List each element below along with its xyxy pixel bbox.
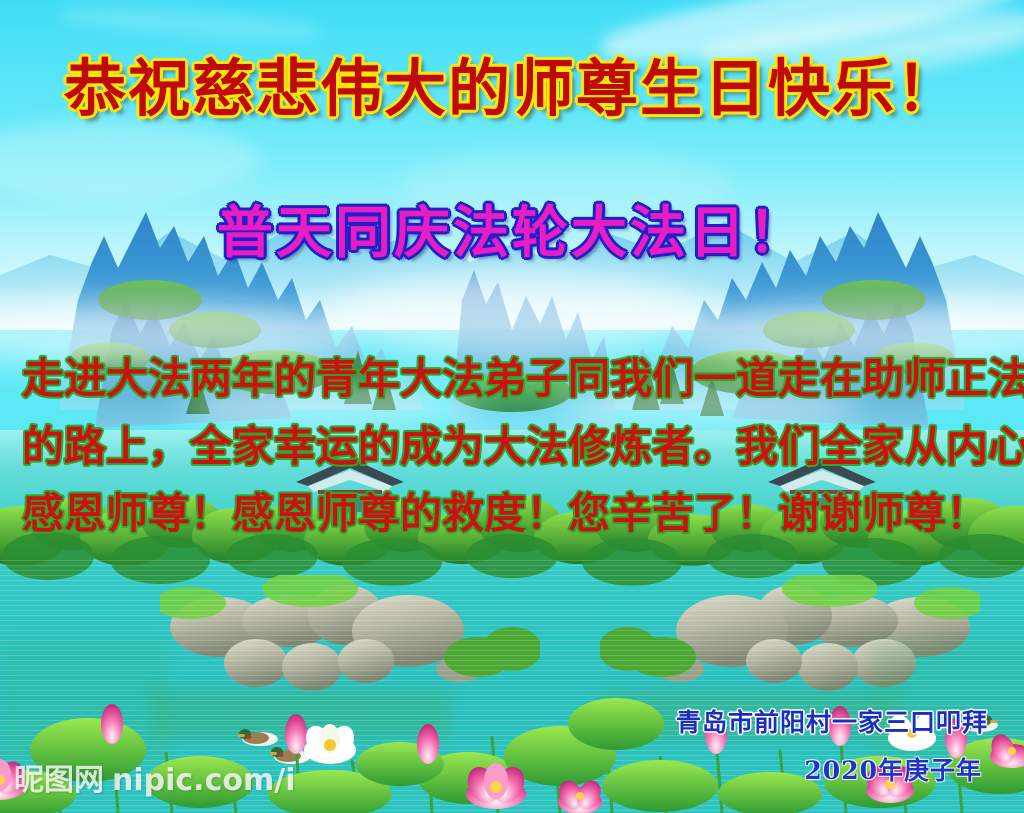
greeting-card: 恭祝慈悲伟大的师尊生日快乐！ 普天同庆法轮大法日！ 走进大法两年的青年大法弟子同… [0, 0, 1024, 813]
mist-band [560, 380, 860, 432]
rock-island-left [160, 575, 540, 700]
lotus-foreground [0, 690, 1024, 813]
card-body-line-1: 走进大法两年的青年大法弟子同我们一道走在助师正法 [22, 358, 1002, 400]
rock-island-right [600, 575, 980, 700]
sky-background [0, 0, 1024, 330]
mist-band [180, 380, 480, 432]
